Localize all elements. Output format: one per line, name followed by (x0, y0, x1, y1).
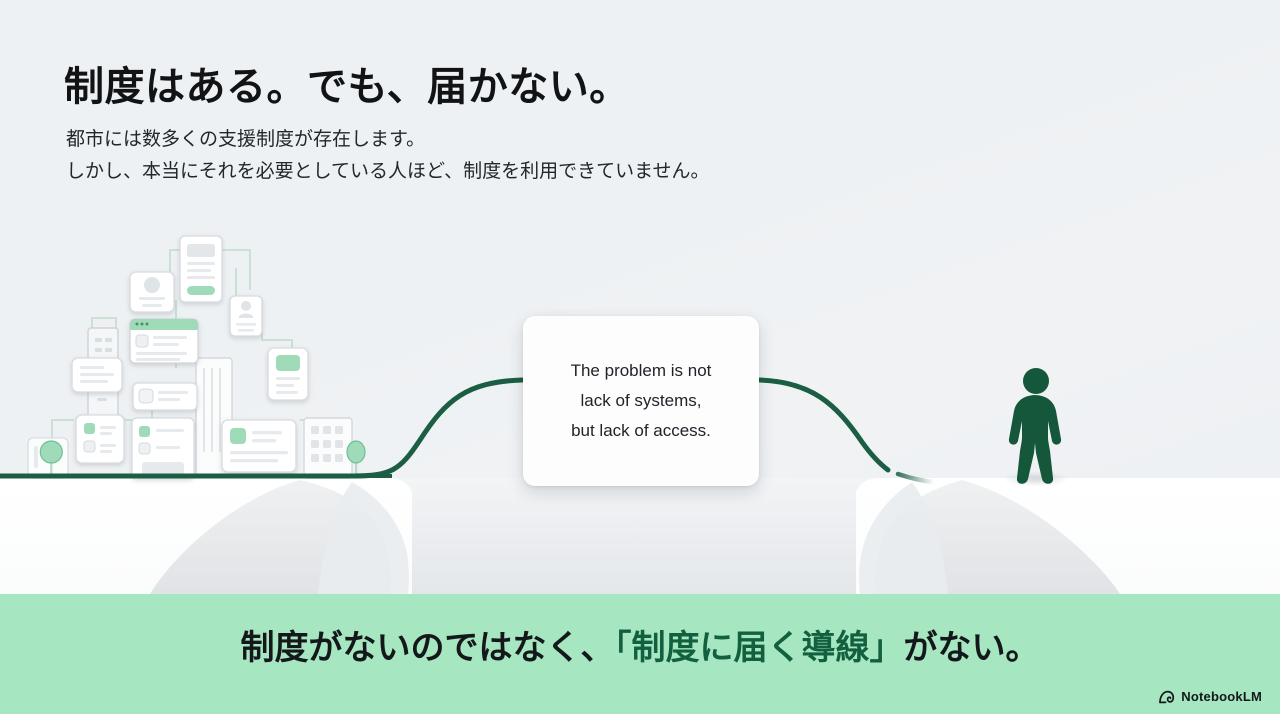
quote-text: The problem is not lack of systems, but … (571, 356, 712, 446)
bridge-path-right (760, 380, 888, 470)
subtitle-line-2: しかし、本当にそれを必要としている人ほど、制度を利用できていません。 (66, 156, 710, 188)
person-figure (1003, 368, 1069, 487)
document-pile (28, 236, 365, 478)
conclusion-accent: 「制度に届く導線」 (615, 629, 904, 667)
page-subtitle: 都市には数多くの支援制度が存在します。 しかし、本当にそれを必要としている人ほど… (66, 124, 710, 188)
notebooklm-logo-text: NotebookLM (1181, 689, 1262, 704)
conclusion-suffix: がない。 (904, 629, 1040, 667)
quote-card: The problem is not lack of systems, but … (523, 316, 759, 486)
quote-line-2: lack of systems, (571, 386, 712, 416)
person-shadow (1003, 472, 1069, 487)
conclusion-banner: 制度がないのではなく、「制度に届く導線」がない。 NotebookLM (0, 594, 1280, 714)
notebooklm-spiral-icon (1158, 690, 1175, 704)
quote-line-1: The problem is not (571, 356, 712, 386)
conclusion-text: 制度がないのではなく、「制度に届く導線」がない。 (0, 620, 1280, 669)
quote-line-3: but lack of access. (571, 416, 712, 446)
conclusion-prefix: 制度がないのではなく、 (241, 629, 615, 667)
page-title: 制度はある。でも、届かない。 (64, 54, 630, 112)
slide-canvas: 制度はある。でも、届かない。 都市には数多くの支援制度が存在します。 しかし、本… (0, 0, 1280, 714)
subtitle-line-1: 都市には数多くの支援制度が存在します。 (66, 124, 710, 156)
notebooklm-logo: NotebookLM (1158, 689, 1262, 704)
